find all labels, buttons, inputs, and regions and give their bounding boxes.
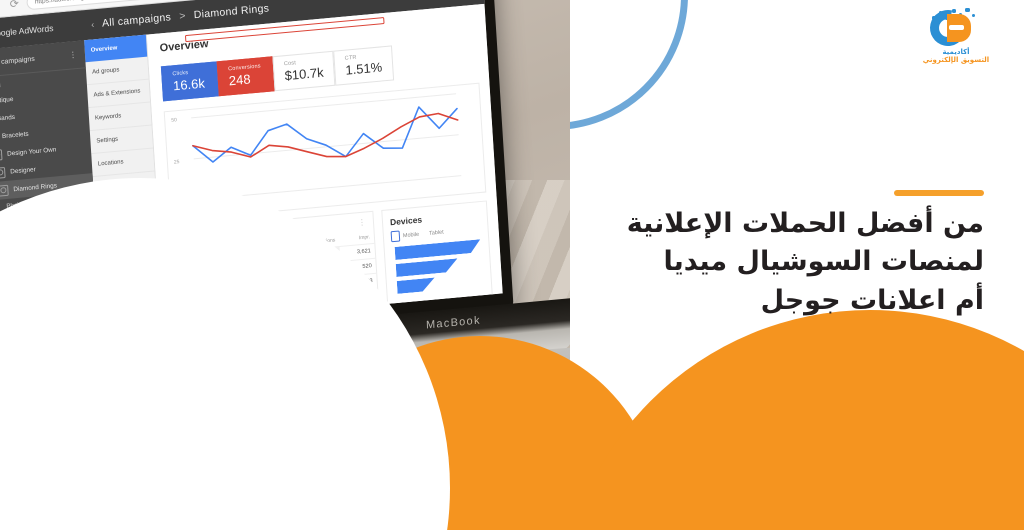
sidebar-item-label: Bracelets [2, 130, 29, 139]
headline-line-2: لمنصات السوشيال ميديا [514, 243, 984, 281]
forward-icon[interactable]: → [0, 0, 2, 12]
logo-text-line-1: أكاديمية [910, 48, 1002, 56]
breadcrumb-separator: > [179, 10, 186, 23]
funnel-bar-2 [396, 258, 459, 277]
breadcrumb-diamond-rings[interactable]: Diamond Rings [193, 2, 269, 21]
metric-card-cost[interactable]: Cost $10.7k [272, 51, 335, 91]
sidebar-item-label: Bands [0, 113, 15, 122]
legend-item-mobile[interactable]: Mobile [391, 229, 420, 243]
logo-mark [930, 8, 976, 48]
legend-item-tablet[interactable]: Tablet [429, 226, 444, 238]
all-campaigns-label: All campaigns [0, 53, 63, 67]
legend-label: Tablet [429, 229, 444, 236]
headline-rule [894, 190, 984, 196]
sidebar-item-label: Antique [0, 95, 14, 104]
metric-card-ctr[interactable]: CTR 1.51% [333, 45, 394, 85]
metric-card-conversions[interactable]: Conversions 248 [217, 56, 275, 96]
devices-funnel-chart [385, 238, 492, 306]
campaign-icon [0, 166, 6, 178]
funnel-bar-3 [397, 277, 436, 293]
sidebar-item-label: Designer [10, 166, 36, 175]
logo-wordmark: أكاديمية التسويق الإلكتروني [910, 48, 1002, 64]
mobile-icon [391, 230, 401, 242]
breadcrumb-all-campaigns[interactable]: All campaigns [102, 11, 172, 29]
headline-line-3: أم اعلانات جوجل [514, 282, 984, 320]
more-vertical-icon[interactable]: ⋮ [69, 52, 77, 59]
sidebar-item-label: Design Your Own [7, 146, 57, 157]
legend-label: Mobile [403, 231, 420, 238]
logo-letter-e [947, 14, 971, 42]
adwords-product-name: Google AdWords [0, 23, 54, 39]
metric-value: 248 [228, 70, 263, 88]
panel-title: Devices [390, 214, 423, 227]
campaign-icon [0, 149, 2, 161]
brand-logo[interactable]: أكاديمية التسويق الإلكتروني [910, 6, 1002, 68]
more-vertical-icon[interactable]: ⋮ [358, 219, 366, 226]
macbook-wordmark: MacBook [426, 314, 481, 331]
metric-value: $10.7k [284, 65, 324, 84]
banner-canvas: Keywords | Google AdWords ← → ⟳ https://… [0, 0, 1024, 530]
metric-value: 1.51% [345, 59, 383, 77]
chevron-left-icon[interactable]: ‹ [83, 19, 103, 31]
metric-value: 16.6k [173, 75, 208, 93]
reload-icon[interactable]: ⟳ [9, 0, 19, 11]
devices-panel: Devices Mobile [381, 200, 493, 317]
metric-card-clicks[interactable]: Clicks 16.6k [161, 61, 219, 101]
logo-text-line-2: التسويق الإلكتروني [910, 56, 1002, 64]
headline-line-1: من أفضل الحملات الإعلانية [514, 205, 984, 243]
headline: من أفضل الحملات الإعلانية لمنصات السوشيا… [514, 205, 984, 320]
campaign-icon [0, 184, 9, 196]
